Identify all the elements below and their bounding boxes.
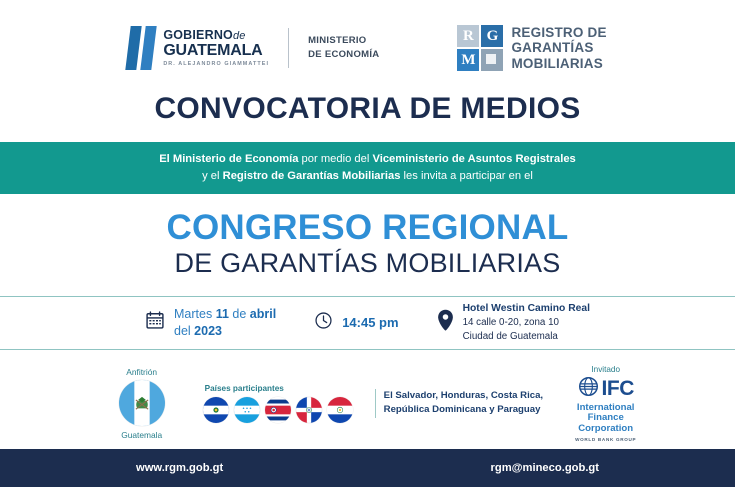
ministerio-line1: MINISTERIO <box>308 34 379 48</box>
intro-line-1: El Ministerio de Economía por medio del … <box>10 151 725 168</box>
footer-website[interactable]: www.rgm.gob.gt <box>136 462 223 474</box>
congress-heading: CONGRESO REGIONAL DE GARANTÍAS MOBILIARI… <box>0 210 735 280</box>
event-time: 14:45 pm <box>314 311 398 335</box>
flag-costa-rica-icon <box>265 397 291 423</box>
date-year: 2023 <box>194 324 222 338</box>
countries-section: Anfitrión Guatemala Países participantes <box>0 365 735 442</box>
gobierno-logo-text: GOBIERNOde GUATEMALA DR. ALEJANDRO GIAMM… <box>163 29 269 67</box>
venue-city: Ciudad de Guatemala <box>463 330 590 344</box>
rgm-cell-m: M <box>457 49 479 71</box>
gobierno-president-line: DR. ALEJANDRO GIAMMATTEI <box>163 62 269 67</box>
flag-guatemala-icon <box>119 380 165 426</box>
intro-connector-2: y el <box>202 170 223 182</box>
gobierno-guatemala-logo: GOBIERNOde GUATEMALA DR. ALEJANDRO GIAMM… <box>128 26 379 70</box>
rgm-cell-g: G <box>481 25 503 47</box>
event-date-text: Martes 11 de abril del 2023 <box>174 306 276 340</box>
intro-line-2: y el Registro de Garantías Mobiliarias l… <box>10 168 725 185</box>
event-date-line2: del 2023 <box>174 323 276 340</box>
date-year-prefix: del <box>174 324 194 338</box>
clock-icon <box>314 311 333 335</box>
participant-countries: Países participantes <box>203 384 353 423</box>
gobierno-line2: GUATEMALA <box>163 43 269 59</box>
event-time-text: 14:45 pm <box>342 314 398 332</box>
globe-icon <box>578 376 599 402</box>
rgm-logo: R G M REGISTRO DE GARANTÍAS MOBILIARIAS <box>457 25 606 71</box>
ministerio-economia-label: MINISTERIO DE ECONOMÍA <box>308 34 379 62</box>
rgm-logo-text: REGISTRO DE GARANTÍAS MOBILIARIAS <box>511 25 606 70</box>
congress-line1: CONGRESO REGIONAL <box>0 210 735 247</box>
date-month: abril <box>250 307 276 321</box>
intro-connector-1: por medio del <box>298 153 372 165</box>
footer-bar: www.rgm.gob.gt rgm@mineco.gob.gt <box>0 449 735 487</box>
date-mid: de <box>229 307 250 321</box>
venue-address: 14 calle 0-20, zona 10 <box>463 316 590 330</box>
world-bank-group-label: WORLD BANK GROUP <box>575 437 636 442</box>
flag-paraguay-icon <box>327 397 353 423</box>
rgm-cell-r: R <box>457 25 479 47</box>
header-logos: GOBIERNOde GUATEMALA DR. ALEJANDRO GIAMM… <box>0 0 735 88</box>
flag-el-salvador-icon <box>203 397 229 423</box>
participants-caption: Países participantes <box>203 384 353 393</box>
event-venue: Hotel Westin Camino Real 14 calle 0-20, … <box>437 302 590 344</box>
rgm-text-line3: MOBILIARIAS <box>511 56 606 71</box>
ministerio-line2: DE ECONOMÍA <box>308 48 379 62</box>
host-country-name: Guatemala <box>99 430 185 440</box>
ifc-caption: Invitado <box>575 365 636 374</box>
venue-name: Hotel Westin Camino Real <box>463 302 590 317</box>
calendar-icon <box>145 310 165 335</box>
event-info-box: Martes 11 de abril del 2023 14:45 pm <box>0 296 735 350</box>
date-prefix: Martes <box>174 307 216 321</box>
rgm-monogram-icon: R G M <box>457 25 503 71</box>
gobierno-line1: GOBIERNOde <box>163 29 269 42</box>
page-title: CONVOCATORIA DE MEDIOS <box>0 92 735 126</box>
rgm-text-line2: GARANTÍAS <box>511 40 606 55</box>
congress-line2: DE GARANTÍAS MOBILIARIAS <box>0 247 735 279</box>
event-date: Martes 11 de abril del 2023 <box>145 306 276 340</box>
intro-band: El Ministerio de Economía por medio del … <box>0 142 735 194</box>
date-day: 11 <box>216 307 229 321</box>
rgm-text-line1: REGISTRO DE <box>511 25 606 40</box>
flag-honduras-icon <box>234 397 260 423</box>
footer-email[interactable]: rgm@mineco.gob.gt <box>491 462 600 474</box>
intro-rgm: Registro de Garantías Mobiliarias <box>223 170 401 182</box>
host-caption: Anfitrión <box>99 367 185 377</box>
ifc-logo: Invitado IFC International Finance Corpo… <box>575 365 636 442</box>
event-venue-text: Hotel Westin Camino Real 14 calle 0-20, … <box>463 302 590 344</box>
location-pin-icon <box>437 309 454 337</box>
participant-country-list: El Salvador, Honduras, Costa Rica, Repúb… <box>375 389 543 418</box>
participant-list-line2: República Dominicana y Paraguay <box>384 403 543 417</box>
participant-flags-row <box>203 397 353 423</box>
gobierno-bars-icon <box>128 26 154 70</box>
ifc-fullname: International Finance Corporation <box>575 403 636 435</box>
host-country: Anfitrión Guatemala <box>99 367 185 440</box>
rgm-square-icon <box>481 49 503 71</box>
flag-dominican-republic-icon <box>296 397 322 423</box>
poster-root: GOBIERNOde GUATEMALA DR. ALEJANDRO GIAMM… <box>0 0 735 487</box>
event-date-line1: Martes 11 de abril <box>174 306 276 323</box>
ifc-main-row: IFC <box>575 376 636 402</box>
intro-tail: les invita a participar en el <box>400 170 532 182</box>
ifc-acronym: IFC <box>602 377 634 401</box>
participant-list-line1: El Salvador, Honduras, Costa Rica, <box>384 389 543 403</box>
logo-divider <box>288 28 289 68</box>
ifc-fullname-line3: Corporation <box>575 424 636 435</box>
intro-viceministry: Viceministerio de Asuntos Registrales <box>372 153 575 165</box>
intro-ministry: El Ministerio de Economía <box>159 153 298 165</box>
